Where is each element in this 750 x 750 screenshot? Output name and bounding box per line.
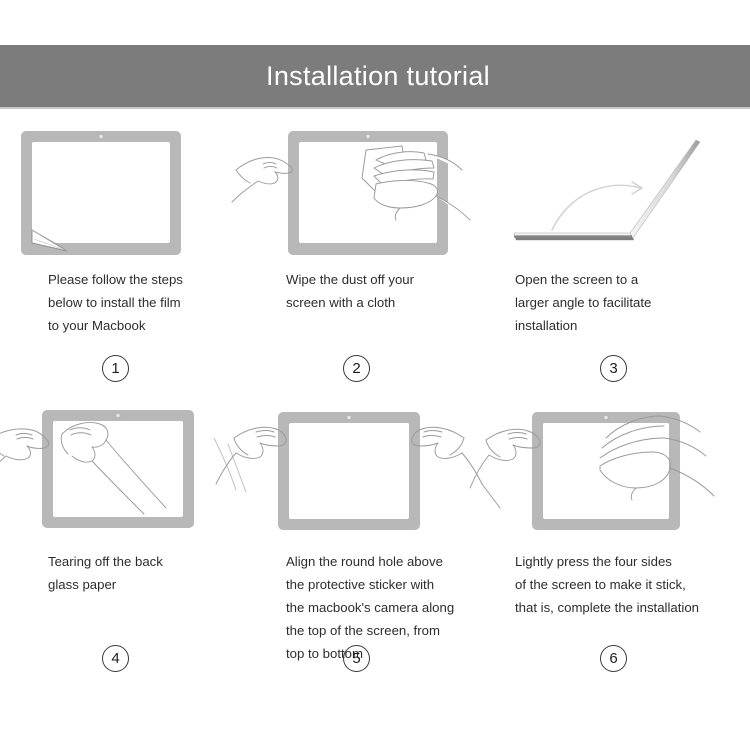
step-5-illustration <box>250 400 500 550</box>
step-panel-5: Align the round hole above the protectiv… <box>250 400 500 720</box>
macbook-screen-icon <box>21 131 181 255</box>
step-4-illustration <box>0 400 250 550</box>
step-3-number: 3 <box>609 361 617 376</box>
step-5-number: 5 <box>352 651 360 666</box>
step-5-badge: 5 <box>343 645 370 672</box>
step-2-badge: 2 <box>343 355 370 382</box>
step-3-illustration <box>500 118 750 268</box>
step-4-caption: Tearing off the back glass paper <box>0 550 250 596</box>
macbook-screen-icon <box>278 412 420 530</box>
macbook-screen-icon <box>42 410 194 528</box>
step-2-illustration <box>250 118 500 268</box>
step-4-badge: 4 <box>102 645 129 672</box>
page-title: Installation tutorial <box>260 63 490 90</box>
macbook-screen-icon <box>532 412 680 530</box>
step-1-illustration <box>0 118 250 268</box>
step-6-caption: Lightly press the four sides of the scre… <box>500 550 750 619</box>
step-4-number: 4 <box>111 651 119 666</box>
installation-tutorial-page: Installation tutorial <box>0 0 750 750</box>
steps-grid: Please follow the steps below to install… <box>0 118 750 750</box>
step-1-number: 1 <box>111 361 119 376</box>
step-panel-2: Wipe the dust off your screen with a clo… <box>250 118 500 400</box>
pinching-left-hand-icon <box>0 429 49 484</box>
secondary-forearm-icon <box>214 438 246 492</box>
step-6-number: 6 <box>609 651 617 666</box>
step-5-caption: Align the round hole above the protectiv… <box>250 550 500 665</box>
laptop-lid-icon <box>628 140 700 238</box>
step-1-caption: Please follow the steps below to install… <box>0 268 250 337</box>
laptop-base-icon <box>514 233 634 240</box>
step-panel-6: Lightly press the four sides of the scre… <box>500 400 750 720</box>
step-2-caption: Wipe the dust off your screen with a clo… <box>250 268 500 314</box>
step-6-badge: 6 <box>600 645 627 672</box>
step-6-illustration <box>500 400 750 550</box>
step-1-badge: 1 <box>102 355 129 382</box>
step-panel-4: Tearing off the back glass paper 4 <box>0 400 250 720</box>
step-panel-1: Please follow the steps below to install… <box>0 118 250 400</box>
step-2-number: 2 <box>352 361 360 376</box>
step-panel-3: Open the screen to a larger angle to fac… <box>500 118 750 400</box>
header-bar: Installation tutorial <box>0 45 750 107</box>
step-3-caption: Open the screen to a larger angle to fac… <box>500 268 750 337</box>
step-3-badge: 3 <box>600 355 627 382</box>
open-lid-arrow-icon <box>552 182 642 230</box>
